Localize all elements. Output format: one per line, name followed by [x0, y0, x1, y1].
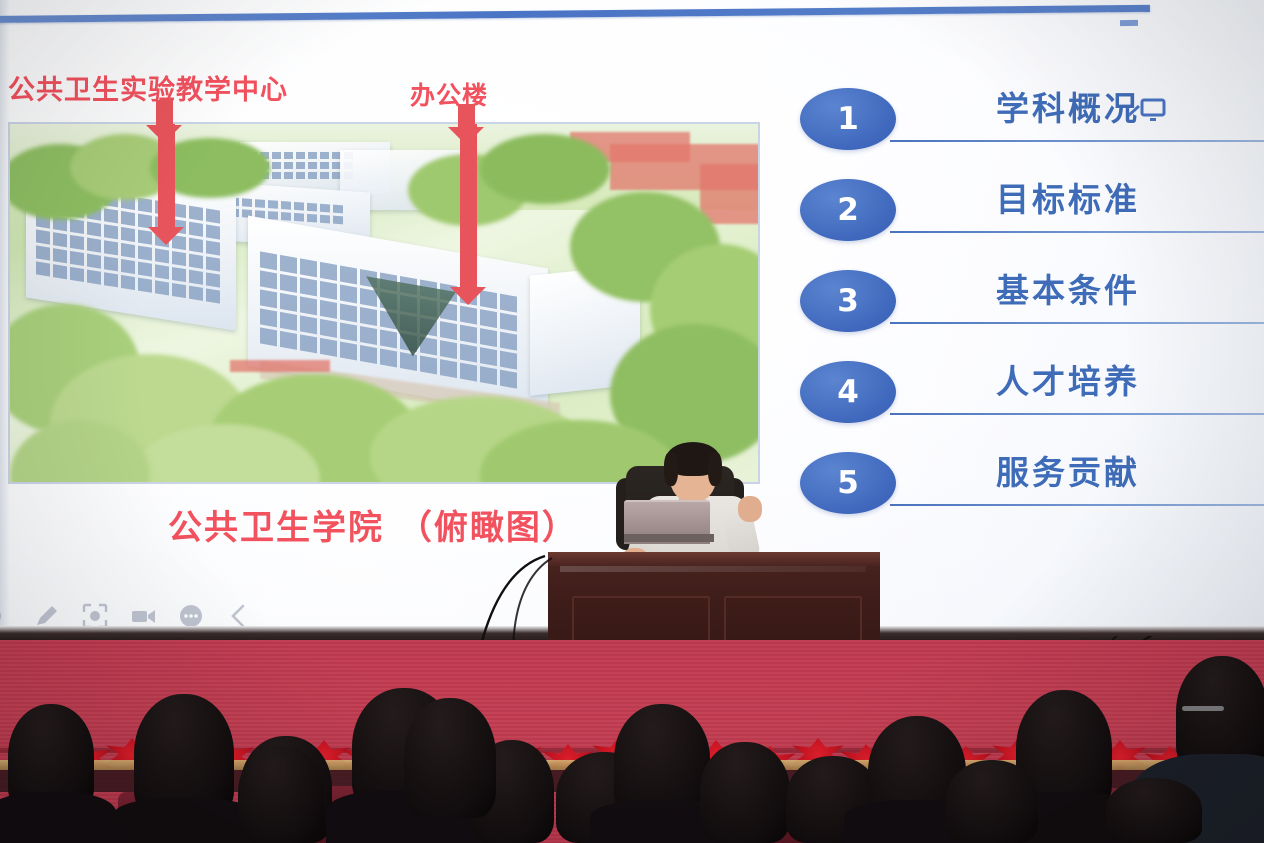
photo-label-office-building: 办公楼	[410, 76, 488, 112]
agenda-number-1: 1	[837, 104, 859, 135]
agenda-badge-2: 2	[800, 179, 896, 241]
agenda-list: 1 学科概况 2 目标标准 3 基本条件	[800, 88, 1264, 528]
slide-top-accent-bar	[0, 5, 1150, 23]
agenda-rule-5	[890, 504, 1264, 506]
audience-shoulders	[0, 792, 116, 843]
agenda-item-3[interactable]: 3 基本条件	[800, 270, 1264, 346]
audience-head	[1106, 778, 1202, 843]
photo-label-lab-center: 公共卫生实验教学中心	[8, 68, 288, 107]
speaker-hair-left	[664, 452, 678, 486]
agenda-label-5: 服务贡献	[996, 446, 1140, 494]
arrow-to-office	[460, 122, 477, 288]
audience-head	[700, 742, 790, 843]
agenda-item-1[interactable]: 1 学科概况	[800, 88, 1264, 164]
agenda-label-2: 目标标准	[996, 173, 1140, 221]
speaker-hair-right	[708, 452, 722, 486]
audience-shoulders	[112, 798, 258, 843]
agenda-number-5: 5	[837, 468, 859, 499]
aerial-campus-photo	[8, 122, 760, 484]
agenda-rule-2	[890, 231, 1264, 233]
agenda-badge-4: 4	[800, 361, 896, 423]
speaker-right-hand	[738, 496, 762, 522]
slide-top-accent-bar-cap	[1120, 20, 1138, 26]
agenda-number-2: 2	[837, 195, 859, 226]
screenshot-root: 公共卫生实验教学中心 办公楼	[0, 0, 1264, 843]
eyeglasses	[1182, 706, 1224, 711]
agenda-label-1: 学科概况	[996, 82, 1140, 130]
agenda-number-4: 4	[837, 377, 859, 408]
agenda-number-3: 3	[837, 286, 859, 317]
arrow-stem-office	[458, 104, 475, 128]
agenda-rule-4	[890, 413, 1264, 415]
audience-head	[238, 746, 324, 843]
agenda-rule-3	[890, 322, 1264, 324]
agenda-item-4[interactable]: 4 人才培养	[800, 361, 1264, 437]
agenda-item-5[interactable]: 5 服务贡献	[800, 452, 1264, 528]
agenda-badge-3: 3	[800, 270, 896, 332]
agenda-label-4: 人才培养	[996, 355, 1140, 403]
agenda-badge-5: 5	[800, 452, 896, 514]
agenda-item-2[interactable]: 2 目标标准	[800, 179, 1264, 255]
agenda-badge-1: 1	[800, 88, 896, 150]
audience-head	[404, 698, 496, 818]
audience-head	[946, 760, 1038, 843]
agenda-rule-1	[890, 140, 1264, 142]
agenda-label-3: 基本条件	[996, 264, 1140, 312]
arrow-stem-lab	[156, 100, 173, 126]
